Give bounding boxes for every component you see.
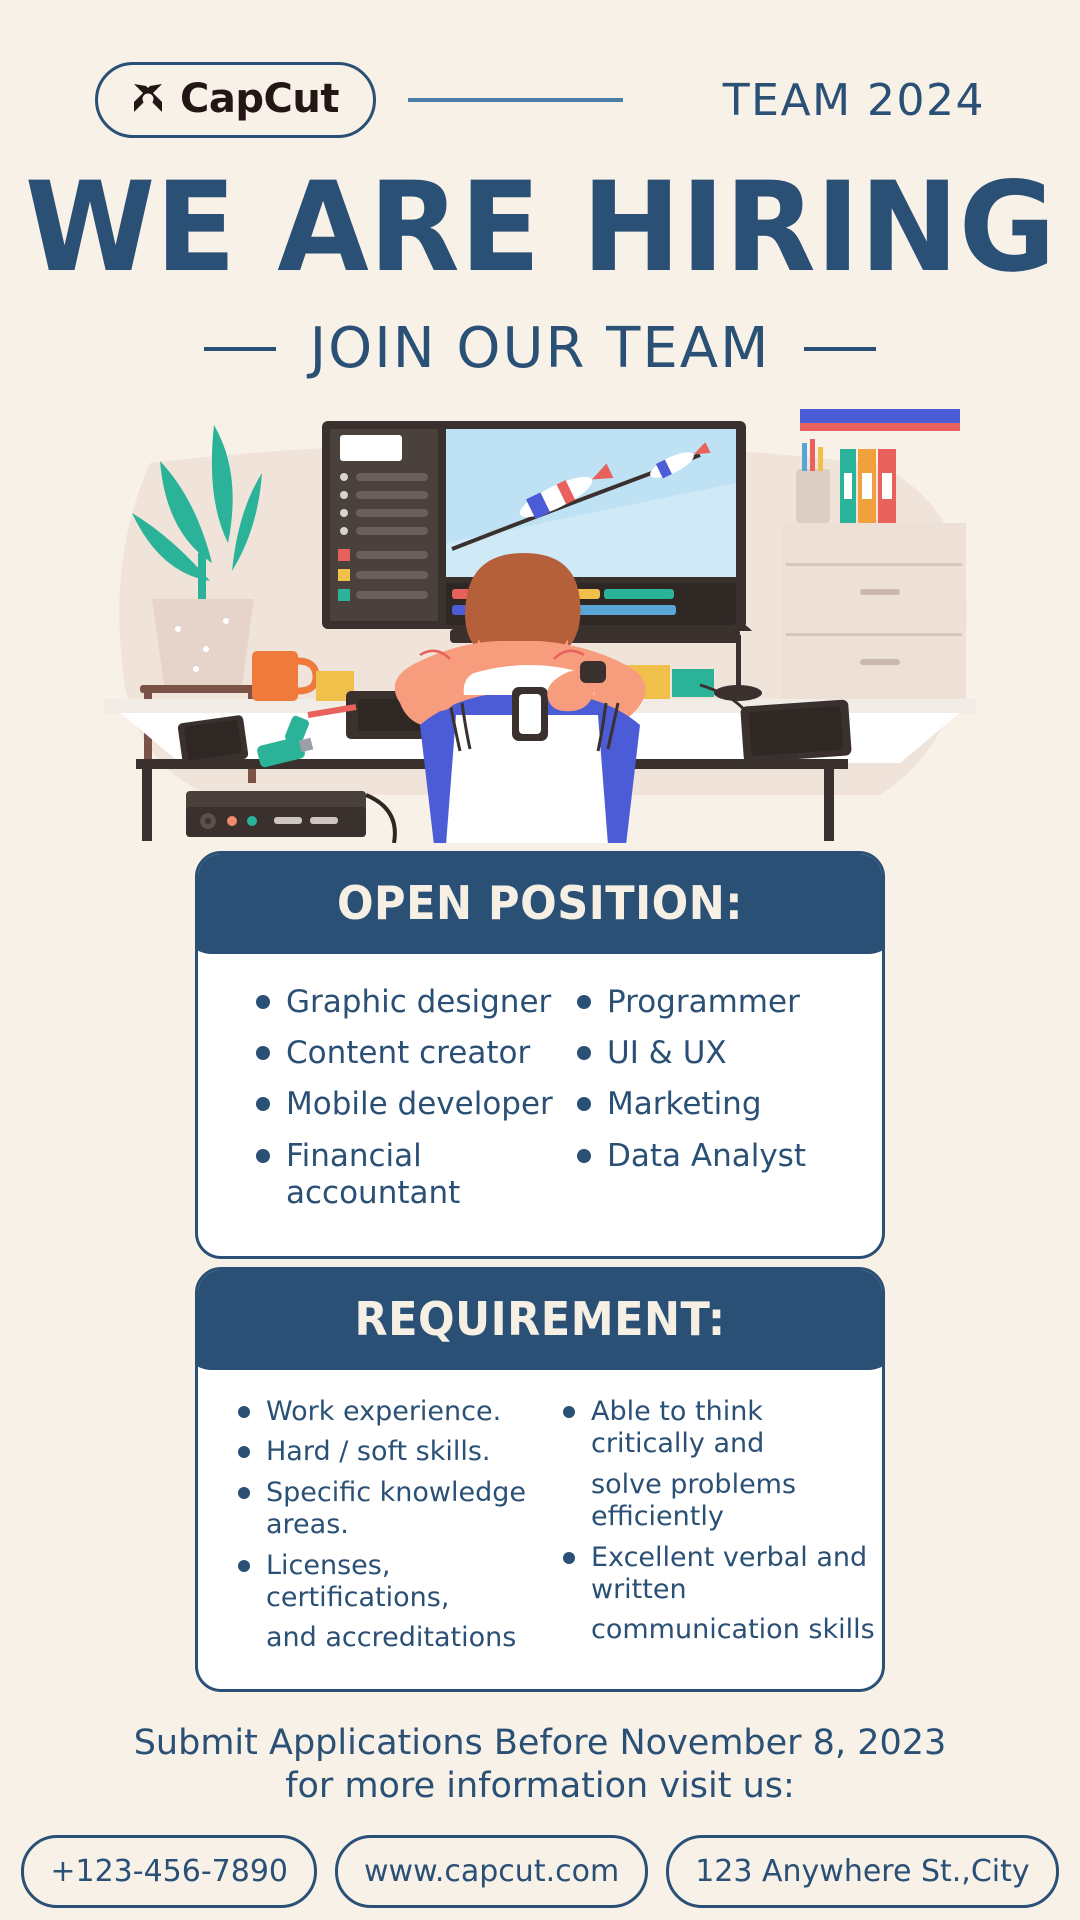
deadline-text: Submit Applications Before November 8, 2… [134,1722,947,1810]
list-item: Marketing [577,1086,882,1123]
bullet-icon [238,1406,250,1418]
list-item: Able to think critically and [563,1396,882,1461]
list-item-label: Financial accountant [286,1138,561,1212]
list-item-label: Graphic designer [286,984,551,1021]
list-item: Licenses, certifications, [238,1550,557,1615]
list-item: Data Analyst [577,1138,882,1175]
list-item-label: Excellent verbal and written [591,1542,882,1607]
list-item-continuation: and accreditations [238,1622,557,1654]
bullet-icon [577,1046,591,1060]
list-item-label: Specific knowledge areas. [266,1477,557,1542]
bullet-icon [563,1406,575,1418]
list-item-label: and accreditations [266,1622,516,1654]
list-item-label: Programmer [607,984,800,1021]
list-item-label: Hard / soft skills. [266,1436,491,1468]
requirement-left-column: Work experience. Hard / soft skills. Spe… [198,1396,557,1663]
capcut-logo-icon [128,79,168,119]
list-item-label: Work experience. [266,1396,501,1428]
list-item: Excellent verbal and written [563,1542,882,1607]
requirement-title: REQUIREMENT: [195,1270,885,1370]
contact-address-pill[interactable]: 123 Anywhere St.,City [666,1835,1058,1908]
bullet-icon [256,1149,270,1163]
list-item-label: communication skills [591,1614,875,1646]
bullet-icon [577,995,591,1009]
list-item: Hard / soft skills. [238,1436,557,1468]
bullet-icon [256,1046,270,1060]
subtitle-row: JOIN OUR TEAM [0,316,1080,381]
list-item: Financial accountant [256,1138,561,1212]
bullet-icon [238,1446,250,1458]
list-item-label: solve problems efficiently [591,1469,882,1534]
requirement-body: Work experience. Hard / soft skills. Spe… [198,1370,882,1689]
hero-illustration [0,403,1080,843]
bullet-icon [256,1097,270,1111]
contact-phone-pill[interactable]: +123-456-7890 [21,1835,317,1908]
poster-header: CapCut TEAM 2024 [0,0,1080,138]
list-item-label: Mobile developer [286,1086,553,1123]
bullet-icon [577,1149,591,1163]
list-item: Specific knowledge areas. [238,1477,557,1542]
header-divider-rule [408,98,623,102]
list-item-label: Licenses, certifications, [266,1550,557,1615]
contact-website-pill[interactable]: www.capcut.com [335,1835,648,1908]
list-item-label: UI & UX [607,1035,727,1072]
requirement-card: REQUIREMENT: Work experience. Hard / sof… [195,1267,885,1692]
list-item: Mobile developer [256,1086,561,1123]
bullet-icon [238,1487,250,1499]
list-item: Work experience. [238,1396,557,1428]
page-subtitle: JOIN OUR TEAM [310,316,771,381]
subtitle-dash-right [804,347,876,351]
bullet-icon [563,1552,575,1564]
list-item: Programmer [577,984,882,1021]
bullet-icon [256,995,270,1009]
list-item-label: Content creator [286,1035,530,1072]
open-position-card: OPEN POSITION: Graphic designer Content … [195,851,885,1259]
open-position-title: OPEN POSITION: [195,854,885,954]
list-item-label: Able to think critically and [591,1396,882,1461]
bullet-icon [238,1560,250,1572]
subtitle-dash-left [204,347,276,351]
page-title: WE ARE HIRING [25,166,1056,290]
deadline-line-1: Submit Applications Before November 8, 2… [134,1722,947,1766]
open-position-right-column: Programmer UI & UX Marketing Data Analys… [561,984,882,1226]
bullet-icon [577,1097,591,1111]
deadline-line-2: for more information visit us: [134,1765,947,1809]
list-item-label: Data Analyst [607,1138,806,1175]
contact-pills: +123-456-7890 www.capcut.com 123 Anywher… [21,1835,1058,1908]
list-item: Graphic designer [256,984,561,1021]
open-position-left-column: Graphic designer Content creator Mobile … [198,984,561,1226]
open-position-body: Graphic designer Content creator Mobile … [198,954,882,1256]
hiring-poster: CapCut TEAM 2024 WE ARE HIRING JOIN OUR … [0,0,1080,1920]
team-year-label: TEAM 2024 [723,75,985,126]
list-item-continuation: solve problems efficiently [563,1469,882,1534]
requirement-right-column: Able to think critically and solve probl… [557,1396,882,1663]
capcut-logo-badge[interactable]: CapCut [95,62,376,138]
list-item-label: Marketing [607,1086,762,1123]
list-item: UI & UX [577,1035,882,1072]
list-item: Content creator [256,1035,561,1072]
capcut-logo-text: CapCut [180,79,339,119]
list-item-continuation: communication skills [563,1614,882,1646]
